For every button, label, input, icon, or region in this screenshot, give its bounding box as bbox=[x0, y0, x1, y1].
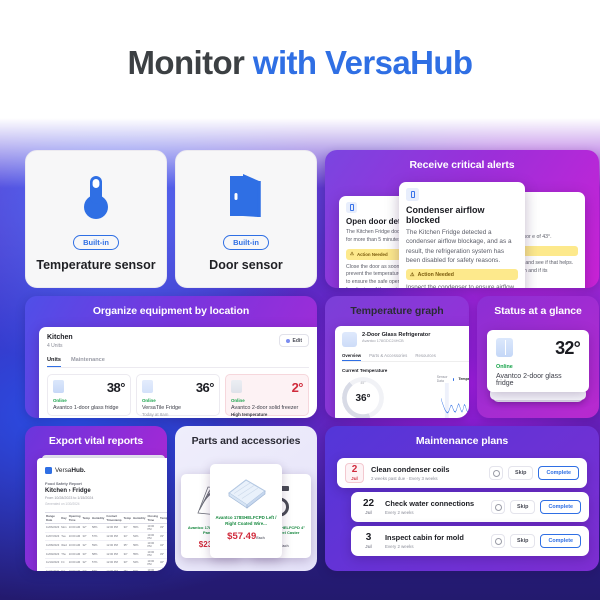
table-cell: Thu bbox=[60, 550, 67, 559]
table-cell: 10:00 AM bbox=[68, 532, 82, 541]
table-cell: 11/06/2023 bbox=[45, 523, 60, 532]
temperature-line-chart bbox=[441, 383, 469, 418]
device-model: Avantco 178GDC24HCB bbox=[362, 339, 430, 343]
table-cell: 58% bbox=[91, 567, 105, 571]
table-cell: 10:00 PM bbox=[146, 532, 159, 541]
table-body: 11/06/2023Mon10:00 AM32°58%12:00 PM34°55… bbox=[45, 523, 167, 571]
warning-triangle-icon: ⚠ bbox=[350, 251, 354, 257]
page-title: Monitor with VersaHub bbox=[128, 44, 473, 82]
fridge-icon bbox=[142, 380, 153, 393]
table-cell: 34° bbox=[159, 567, 167, 571]
table-cell: 10:00 AM bbox=[68, 567, 82, 571]
table-row: 11/11/2023Sat10:00 AM33°58%12:00 PM35°56… bbox=[45, 567, 167, 571]
alert-action-label: Action Needed bbox=[418, 272, 454, 278]
alert-footer: Inspect the condenser to ensure airflow … bbox=[406, 284, 518, 288]
table-cell: 12:00 PM bbox=[105, 541, 122, 550]
report-date-range: From 10/28/2023 to 1/15/2024 bbox=[45, 496, 163, 500]
task-day: 2 bbox=[346, 465, 363, 476]
status-temperature: 32° bbox=[555, 338, 580, 359]
table-cell: 59% bbox=[91, 541, 105, 550]
table-cell: 56% bbox=[132, 567, 146, 571]
table-cell: 33° bbox=[81, 567, 91, 571]
units-grid: 38° Online Avantco 1-door glass fridge 3… bbox=[47, 374, 309, 416]
table-cell: 12:00 PM bbox=[105, 567, 122, 571]
badge-built-in: Built-in bbox=[73, 235, 119, 250]
unit-card[interactable]: 38° Online Avantco 1-door glass fridge bbox=[47, 374, 131, 416]
badge-built-in: Built-in bbox=[223, 235, 269, 250]
tab-overview[interactable]: Overview bbox=[342, 353, 361, 361]
tab-units[interactable]: Units bbox=[47, 357, 61, 367]
freezer-icon bbox=[231, 380, 242, 393]
table-cell: 12:00 PM bbox=[105, 532, 122, 541]
open-door-icon bbox=[226, 167, 266, 225]
alerts-stage: Open door detected The Kitchen Fridge do… bbox=[325, 178, 599, 288]
table-cell: 34° bbox=[123, 523, 133, 532]
table-cell: 33° bbox=[81, 532, 91, 541]
report-heading: Kitchen › Fridge bbox=[45, 488, 163, 494]
task-month: Jul bbox=[346, 476, 363, 481]
device-tabs: Overview Parts & Accessories Resources bbox=[342, 353, 469, 362]
table-cell: 11/11/2023 bbox=[45, 567, 60, 571]
page-title-blue: with VersaHub bbox=[253, 44, 473, 81]
fridge-icon bbox=[406, 188, 419, 201]
legend-item-door-alerts: Sensor Data bbox=[437, 375, 449, 383]
report-kicker: Food Safety Report bbox=[45, 481, 163, 486]
table-cell: 10:00 PM bbox=[146, 541, 159, 550]
part-name: Avantco 178SHELFCPD Left / Right Coated … bbox=[214, 515, 278, 527]
table-cell: 35° bbox=[123, 567, 133, 571]
device-name: 2-Door Glass Refrigerator bbox=[362, 332, 430, 338]
alert-card-condenser-airflow[interactable]: Condenser airflow blocked The Kitchen Fr… bbox=[399, 182, 525, 288]
complete-button[interactable]: Complete bbox=[538, 466, 579, 480]
table-cell: 11/08/2023 bbox=[45, 541, 60, 550]
table-header-cell: Humidity bbox=[91, 512, 105, 523]
alert-title: Condenser airflow blocked bbox=[406, 205, 518, 225]
report-stack: VersaHub. Food Safety Report Kitchen › F… bbox=[37, 458, 167, 571]
panel-receive-critical-alerts: Receive critical alerts Open door detect… bbox=[325, 150, 599, 288]
table-cell: 10:00 PM bbox=[146, 567, 159, 571]
feature-grid: Built-in Temperature sensor Built-in Doo… bbox=[25, 150, 575, 571]
table-cell: 10:00 AM bbox=[68, 541, 82, 550]
parts-stage: Avantco 178SHELFCPC 1 Pan Alu... $232Eac… bbox=[175, 460, 317, 571]
unit-temperature: 38° bbox=[107, 380, 125, 395]
table-cell: 12:00 PM bbox=[105, 550, 122, 559]
organize-header: Kitchen 4 Units Edit bbox=[47, 334, 309, 349]
status-card[interactable]: 32° Online Avantco 2-door glass fridge bbox=[487, 330, 589, 392]
panel-organize-equipment: Organize equipment by location Kitchen 4… bbox=[25, 296, 317, 418]
table-cell: 35° bbox=[123, 541, 133, 550]
table-cell: 10:00 PM bbox=[146, 550, 159, 559]
logo-mark-icon bbox=[45, 467, 52, 474]
table-header-cell: Temp bbox=[81, 512, 91, 523]
complete-button[interactable]: Complete bbox=[540, 534, 581, 548]
report-table: Range DateDayOpening TimeTempHumidityCon… bbox=[45, 512, 167, 572]
card-door-sensor[interactable]: Built-in Door sensor bbox=[175, 150, 317, 288]
unit-name: Avantco 1-door glass fridge bbox=[53, 405, 125, 412]
panel-temperature-graph: Temperature graph 2-Door Glass Refrigera… bbox=[325, 296, 469, 418]
table-cell: 55% bbox=[132, 550, 146, 559]
current-temperature-label: Current Temperature bbox=[342, 368, 469, 373]
edit-icon bbox=[286, 339, 290, 343]
complete-button[interactable]: Complete bbox=[540, 500, 581, 514]
part-card[interactable]: Avantco 178SHELFCPD Left / Right Coated … bbox=[210, 464, 282, 558]
unit-subtext: Today at 8am bbox=[142, 412, 214, 417]
parts-title: Parts and accessories bbox=[175, 426, 317, 453]
table-cell: 10:00 PM bbox=[146, 523, 159, 532]
versahub-logo: VersaHub. bbox=[45, 467, 163, 474]
table-header-cell: Temp bbox=[159, 512, 167, 523]
table-cell: Wed bbox=[60, 541, 67, 550]
page-title-dark: Monitor bbox=[128, 44, 245, 81]
table-cell: 57% bbox=[91, 559, 105, 568]
table-header-cell: Humidity bbox=[132, 512, 146, 523]
maintenance-list: 2 Jul Clean condenser coils 2 weeks past… bbox=[337, 458, 587, 571]
temperature-sensor-label: Temperature sensor bbox=[36, 258, 155, 272]
panel-export-reports: Export vital reports VersaHub. Food Safe… bbox=[25, 426, 167, 571]
table-row: 11/08/2023Wed10:00 AM32°59%12:00 PM35°56… bbox=[45, 541, 167, 550]
table-cell: 32° bbox=[81, 523, 91, 532]
table-cell: 10:00 AM bbox=[68, 550, 82, 559]
task-date-badge: 3 Jul bbox=[359, 533, 378, 549]
table-header-cell: Closing Time bbox=[146, 512, 159, 523]
task-day: 3 bbox=[359, 533, 378, 544]
unit-card[interactable]: 2° Online Avantco 2-door solid freezer H… bbox=[225, 374, 309, 416]
table-cell: 10:00 PM bbox=[146, 559, 159, 568]
table-cell: 33° bbox=[159, 550, 167, 559]
temperature-gauge: 45° 36° bbox=[342, 377, 384, 418]
units-count: 4 Units bbox=[47, 343, 73, 349]
table-cell: 34° bbox=[123, 550, 133, 559]
table-header-cell: Contact Timestamp bbox=[105, 512, 122, 523]
table-cell: 33° bbox=[81, 550, 91, 559]
table-row: 11/07/2023Tue10:00 AM33°57%12:00 PM34°54… bbox=[45, 532, 167, 541]
fridge-icon bbox=[346, 202, 357, 213]
table-cell: 33° bbox=[159, 532, 167, 541]
table-header-cell: Range Date bbox=[45, 512, 60, 523]
tempgraph-card: 2-Door Glass Refrigerator Avantco 178GDC… bbox=[335, 326, 469, 418]
skip-button[interactable]: Skip bbox=[508, 466, 533, 480]
status-online-label: Online bbox=[496, 364, 580, 370]
tempgraph-title: Temperature graph bbox=[325, 296, 469, 323]
alert-action-badge: ⚠ Action Needed bbox=[406, 269, 518, 280]
report-generated: Generated on 1/30/2024 bbox=[45, 502, 163, 506]
task-title: Clean condenser coils bbox=[371, 465, 482, 474]
shelf-icon bbox=[214, 469, 278, 513]
organize-title: Organize equipment by location bbox=[25, 296, 317, 323]
table-cell: Fri bbox=[60, 559, 67, 568]
table-cell: 54% bbox=[132, 532, 146, 541]
alert-action-label: Action Needed bbox=[357, 252, 388, 257]
tab-parts-accessories[interactable]: Parts & Accessories bbox=[369, 353, 407, 361]
task-month: Jul bbox=[359, 544, 378, 549]
table-cell: 33° bbox=[159, 523, 167, 532]
table-cell: Sat bbox=[60, 567, 67, 571]
status-device-name: Avantco 2-door glass fridge bbox=[496, 373, 580, 387]
table-cell: 32° bbox=[81, 541, 91, 550]
table-cell: 57% bbox=[91, 532, 105, 541]
table-header-cell: Day bbox=[60, 512, 67, 523]
task-date-badge: 2 Jul bbox=[345, 463, 364, 483]
alerts-title: Receive critical alerts bbox=[325, 150, 599, 177]
table-cell: Tue bbox=[60, 532, 67, 541]
unit-status: Online bbox=[142, 398, 214, 403]
organize-tabs: Units Maintenance bbox=[47, 357, 309, 368]
table-cell: 34° bbox=[159, 541, 167, 550]
task-subtitle: 2 weeks past due · Every 3 weeks bbox=[371, 476, 482, 481]
edit-label: Edit bbox=[293, 338, 302, 344]
settings-gear-icon[interactable] bbox=[491, 534, 505, 548]
card-temperature-sensor[interactable]: Built-in Temperature sensor bbox=[25, 150, 167, 288]
unit-card[interactable]: 36° Online VersaTile Fridge Today at 8am bbox=[136, 374, 220, 416]
settings-gear-icon[interactable] bbox=[489, 466, 503, 480]
table-cell: 32° bbox=[159, 559, 167, 568]
alert-body: The Kitchen Fridge detected a condenser … bbox=[406, 228, 518, 265]
table-cell: 56% bbox=[132, 541, 146, 550]
table-cell: 11/10/2023 bbox=[45, 559, 60, 568]
report-document[interactable]: VersaHub. Food Safety Report Kitchen › F… bbox=[37, 458, 167, 571]
table-header-cell: Opening Time bbox=[68, 512, 82, 523]
table-cell: 10:00 AM bbox=[68, 523, 82, 532]
skip-button[interactable]: Skip bbox=[510, 534, 535, 548]
maintenance-title: Maintenance plans bbox=[325, 426, 599, 453]
logo-text: VersaHub. bbox=[55, 467, 86, 474]
task-title: Inspect cabin for mold bbox=[385, 533, 484, 542]
maintenance-task-row[interactable]: 3 Jul Inspect cabin for mold Every 2 wee… bbox=[351, 526, 589, 556]
fridge-icon bbox=[53, 380, 64, 393]
organize-card: Kitchen 4 Units Edit Units Maintenance 3… bbox=[39, 327, 317, 418]
maintenance-task-row[interactable]: 2 Jul Clean condenser coils 2 weeks past… bbox=[337, 458, 587, 488]
door-sensor-label: Door sensor bbox=[209, 258, 283, 272]
task-subtitle: Every 2 weeks bbox=[385, 510, 484, 515]
unit-name: Avantco 2-door solid freezer bbox=[231, 405, 303, 412]
status-card-stack: 32° Online Avantco 2-door glass fridge bbox=[487, 330, 589, 392]
panel-parts-accessories: Parts and accessories Avantco 178SHELFCP… bbox=[175, 426, 317, 571]
warning-triangle-icon: ⚠ bbox=[410, 272, 415, 278]
task-subtitle: Every 2 weeks bbox=[385, 544, 484, 549]
table-cell: 10:00 AM bbox=[68, 559, 82, 568]
table-cell: 12:00 PM bbox=[105, 523, 122, 532]
table-cell: 55% bbox=[132, 523, 146, 532]
unit-temperature: 2° bbox=[292, 380, 303, 395]
tab-resources[interactable]: Resources bbox=[415, 353, 436, 361]
table-cell: 58% bbox=[91, 550, 105, 559]
room-name: Kitchen bbox=[47, 334, 73, 341]
table-cell: 33° bbox=[123, 559, 133, 568]
legend-dot-icon bbox=[453, 378, 455, 381]
table-cell: 54% bbox=[132, 559, 146, 568]
panel-status-at-a-glance: Status at a glance 32° Online Avantco 2-… bbox=[477, 296, 599, 418]
page-header: Monitor with VersaHub bbox=[0, 0, 600, 126]
thermometer-icon bbox=[79, 167, 113, 225]
edit-button[interactable]: Edit bbox=[279, 334, 309, 347]
device-header: 2-Door Glass Refrigerator Avantco 178GDC… bbox=[342, 332, 469, 347]
table-header-row: Range DateDayOpening TimeTempHumidityCon… bbox=[45, 512, 167, 523]
task-month: Jul bbox=[359, 510, 378, 515]
unit-temperature: 36° bbox=[196, 380, 214, 395]
gauge-value: 36° bbox=[342, 377, 384, 418]
table-cell: 58% bbox=[91, 523, 105, 532]
device-thumbnail-icon bbox=[342, 332, 357, 347]
unit-name: VersaTile Fridge bbox=[142, 405, 214, 412]
table-cell: Mon bbox=[60, 523, 67, 532]
chart-area: Sensor Data Temperature Today February 1… bbox=[441, 377, 469, 418]
chart-legend: Sensor Data Temperature bbox=[437, 375, 469, 383]
status-title: Status at a glance bbox=[477, 296, 599, 323]
unit-status: Online bbox=[231, 398, 303, 403]
task-day: 22 bbox=[359, 499, 378, 510]
task-date-badge: 22 Jul bbox=[359, 499, 378, 515]
tab-maintenance[interactable]: Maintenance bbox=[71, 357, 105, 367]
table-row: 11/10/2023Fri10:00 AM32°57%12:00 PM33°54… bbox=[45, 559, 167, 568]
unit-status: Online bbox=[53, 398, 125, 403]
table-cell: 11/09/2023 bbox=[45, 550, 60, 559]
table-cell: 11/07/2023 bbox=[45, 532, 60, 541]
settings-gear-icon[interactable] bbox=[491, 500, 505, 514]
table-cell: 32° bbox=[81, 559, 91, 568]
skip-button[interactable]: Skip bbox=[510, 500, 535, 514]
table-row: 11/06/2023Mon10:00 AM32°58%12:00 PM34°55… bbox=[45, 523, 167, 532]
maintenance-task-row[interactable]: 22 Jul Check water connections Every 2 w… bbox=[351, 492, 589, 522]
table-header-cell: Temp bbox=[123, 512, 133, 523]
table-cell: 12:00 PM bbox=[105, 559, 122, 568]
reports-title: Export vital reports bbox=[25, 426, 167, 453]
legend-title: Temperature bbox=[458, 377, 469, 381]
panel-maintenance-plans: Maintenance plans 2 Jul Clean condenser … bbox=[325, 426, 599, 571]
task-title: Check water connections bbox=[385, 499, 484, 508]
table-row: 11/09/2023Thu10:00 AM33°58%12:00 PM34°55… bbox=[45, 550, 167, 559]
fridge-icon bbox=[496, 338, 513, 357]
unit-warning: High temperature bbox=[231, 412, 303, 417]
part-price: $57.49Each bbox=[214, 531, 278, 542]
table-cell: 34° bbox=[123, 532, 133, 541]
